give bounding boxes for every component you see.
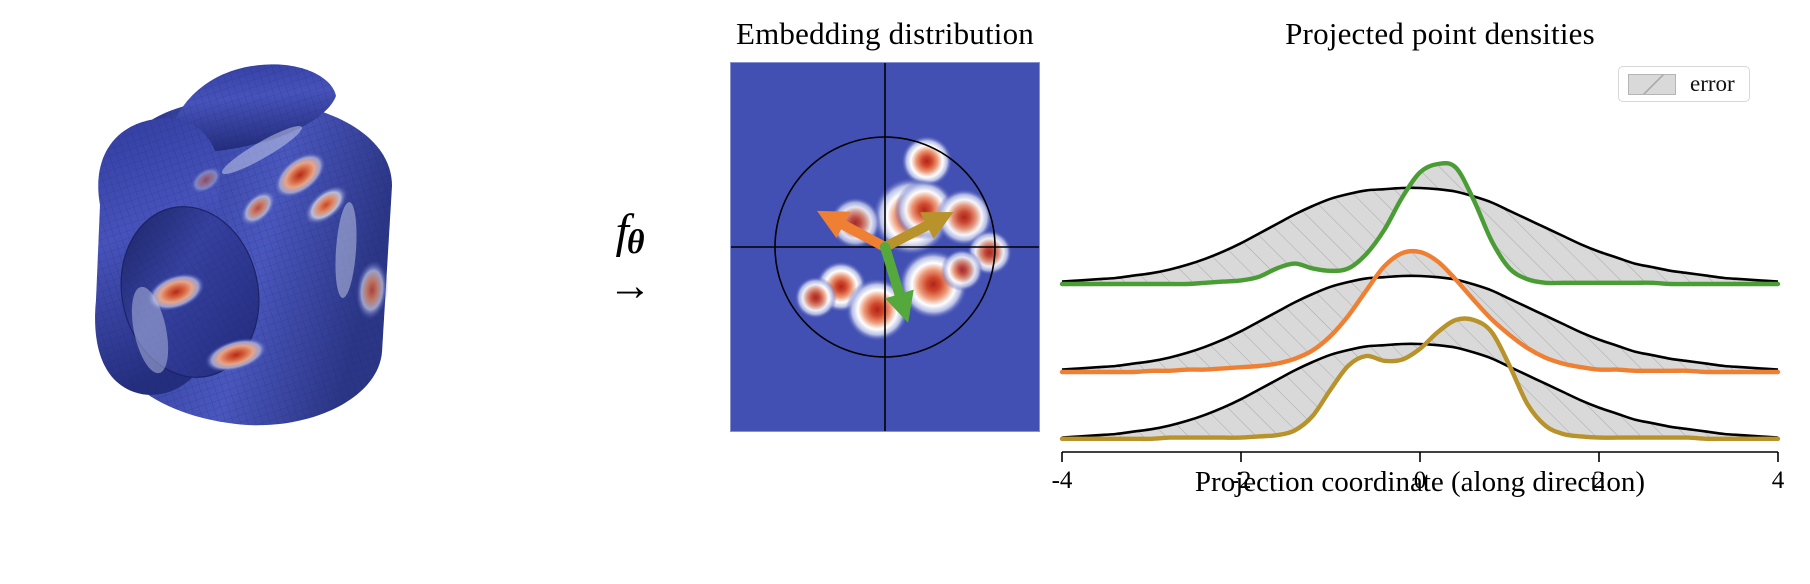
x-axis-label: Projection coordinate (along direction) (1040, 466, 1800, 499)
embedding-svg (731, 63, 1039, 431)
reference-gaussian-curve (1062, 276, 1778, 370)
density-rows (1062, 163, 1778, 439)
error-area (1062, 319, 1778, 439)
hatch-pattern-icon (1628, 74, 1676, 95)
embedding-distribution-panel (730, 62, 1040, 432)
density-blob (795, 277, 837, 319)
density-row-olive-density (1062, 319, 1778, 439)
density-blob (941, 249, 983, 291)
embedding-panel-title: Embedding distribution (640, 16, 1130, 52)
encoder-map-label: fθ → (560, 208, 700, 318)
projected-densities-panel: -4-2024 (1040, 62, 1800, 502)
3d-manifold-panel (0, 0, 520, 520)
function-symbol: fθ (560, 208, 700, 260)
error-legend-label: error (1690, 71, 1735, 97)
densities-panel-title: Projected point densities (1130, 16, 1750, 52)
function-symbol-theta: θ (627, 224, 645, 261)
error-swatch-icon (1628, 74, 1676, 95)
map-arrow-icon: → (560, 264, 700, 308)
densities-svg: -4-2024 (1040, 62, 1800, 502)
embedding-plot-area (730, 62, 1040, 432)
figure-root: fθ → Embedding distribution (0, 0, 1810, 584)
manifold-svg (0, 0, 520, 520)
olive-density-curve (1062, 319, 1778, 439)
error-legend[interactable]: error (1618, 66, 1750, 102)
